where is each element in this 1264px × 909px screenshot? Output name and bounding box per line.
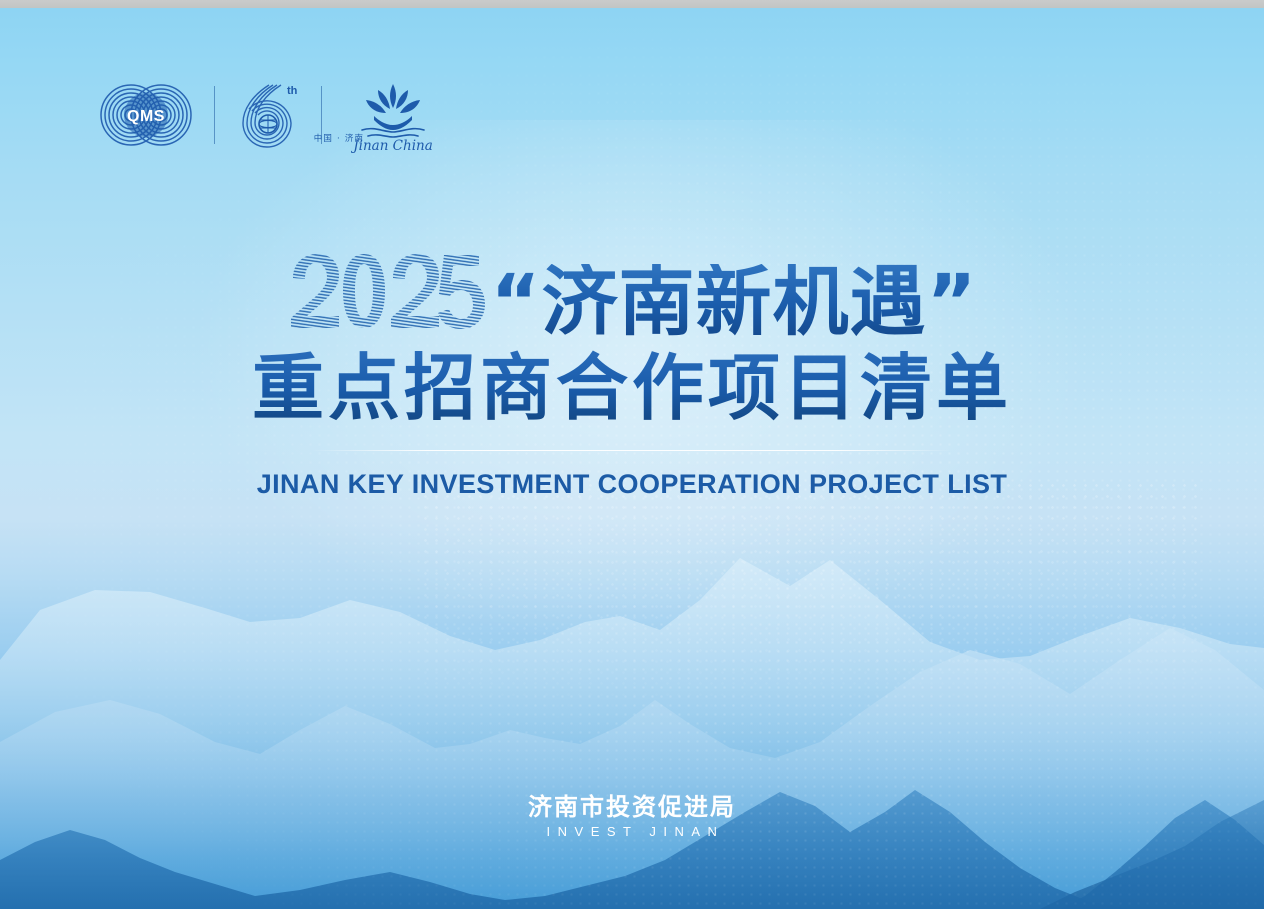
headline-chinese-quoted: “济南新机遇” (491, 264, 978, 340)
headline-block: “济南新机遇” 重点招商合作项目清单 JINAN KEY INVESTMENT … (0, 246, 1264, 500)
jinan-china-logo-chinese: 中国 · 济南 (290, 132, 388, 144)
footer-block: 济南市投资促进局 INVEST JINAN (0, 793, 1264, 840)
svg-text:th: th (287, 85, 298, 97)
headline-divider (312, 450, 952, 451)
headline-line-2: 重点招商合作项目清单 (0, 348, 1264, 428)
footer-org-english: INVEST JINAN (0, 824, 1264, 840)
headline-subtitle-english: JINAN KEY INVESTMENT COOPERATION PROJECT… (0, 469, 1264, 500)
header-logo-bar: QMS th (100, 72, 442, 158)
year-2025-graphic (287, 250, 487, 340)
svg-text:QMS: QMS (127, 108, 165, 125)
logo-divider-1 (214, 86, 215, 144)
footer-org-chinese: 济南市投资促进局 (0, 793, 1264, 821)
top-edge-strip (0, 0, 1264, 8)
headline-line-1: “济南新机遇” (0, 246, 1264, 340)
poster-slide: QMS th (0, 0, 1264, 909)
qms-logo-icon: QMS (100, 79, 192, 151)
